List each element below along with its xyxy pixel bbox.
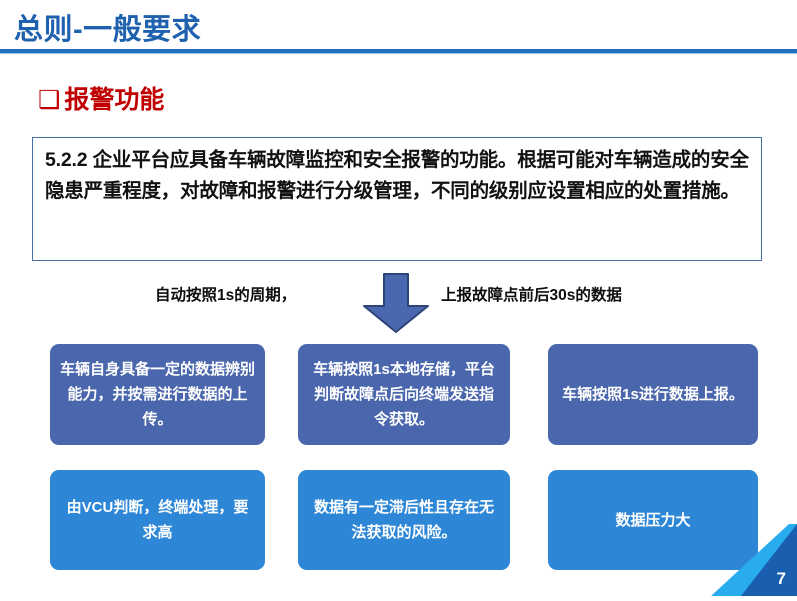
right-annotation-label: 上报故障点前后30s的数据 [441,283,622,305]
flow-box-top-3-text: 车辆按照1s进行数据上报。 [558,382,748,407]
flow-box-top-2[interactable]: 车辆按照1s本地存储，平台判断故障点后向终端发送指令获取。 [298,344,510,445]
page-number: 7 [777,569,786,589]
flow-box-bottom-2-text: 数据有一定滞后性且存在无法获取的风险。 [308,495,500,545]
down-arrow-icon [360,272,432,334]
flow-box-bottom-2[interactable]: 数据有一定滞后性且存在无法获取的风险。 [298,470,510,570]
flow-box-bottom-1-text: 由VCU判断，终端处理，要求高 [60,495,255,545]
standard-clause-text: 5.2.2 企业平台应具备车辆故障监控和安全报警的功能。根据可能对车辆造成的安全… [45,145,751,207]
flow-box-bottom-3[interactable]: 数据压力大 [548,470,758,570]
section-heading: ❑报警功能 [38,80,164,116]
flow-box-bottom-1[interactable]: 由VCU判断，终端处理，要求高 [50,470,265,570]
standard-clause-box: 5.2.2 企业平台应具备车辆故障监控和安全报警的功能。根据可能对车辆造成的安全… [32,137,762,261]
left-annotation-label: 自动按照1s的周期， [155,283,296,305]
flow-box-top-1[interactable]: 车辆自身具备一定的数据辨别能力，并按需进行数据的上传。 [50,344,265,445]
flow-box-bottom-3-text: 数据压力大 [558,508,748,533]
flow-box-top-3[interactable]: 车辆按照1s进行数据上报。 [548,344,758,445]
flow-box-top-1-text: 车辆自身具备一定的数据辨别能力，并按需进行数据的上传。 [60,357,255,432]
header-divider-thin [0,53,797,54]
page-title: 总则-一般要求 [14,6,201,48]
section-heading-label: 报警功能 [64,86,164,114]
square-bullet-icon: ❑ [38,85,60,115]
flow-box-top-2-text: 车辆按照1s本地存储，平台判断故障点后向终端发送指令获取。 [308,357,500,432]
slide-header: 总则-一般要求 [0,0,797,54]
